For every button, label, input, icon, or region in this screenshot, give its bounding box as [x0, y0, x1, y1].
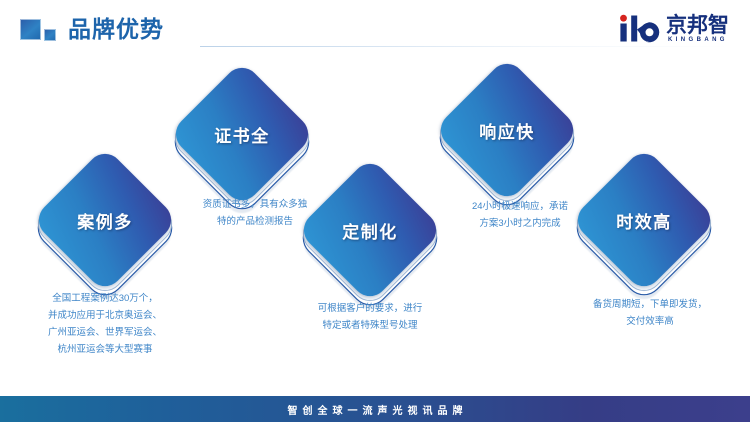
- brand-logo: 京邦智 KINGBANG: [616, 14, 740, 46]
- slide-canvas: 品牌优势 京邦智 KINGBANG 案例多 全国工程案例达30万个， 并成功应用…: [0, 0, 750, 422]
- diamond-badge[interactable]: 响应快: [455, 78, 559, 182]
- diamond-face: [296, 156, 443, 303]
- slide-footer: 智创全球一流声光视讯品牌: [0, 396, 750, 422]
- feature-description: 备货周期短，下单即发货， 交付效率高: [560, 296, 740, 330]
- diamond-badge[interactable]: 定制化: [318, 178, 422, 282]
- footer-slogan: 智创全球一流声光视讯品牌: [283, 402, 468, 417]
- diamond-face: [570, 146, 717, 293]
- logo-chinese-name: 京邦智: [666, 14, 729, 37]
- header-divider: [200, 46, 730, 47]
- feature-description: 可根据客户的要求，进行 特定或者特殊型号处理: [285, 300, 455, 334]
- diamond-face: [433, 56, 580, 203]
- diamond-face: [31, 146, 178, 293]
- feature-description: 全国工程案例达30万个， 并成功应用于北京奥运会、 广州亚运会、世界军运会、 杭…: [0, 290, 210, 358]
- logo-english-name: KINGBANG: [668, 36, 728, 44]
- kb-monogram-icon: [616, 14, 664, 44]
- diamond-badge[interactable]: 时效高: [592, 168, 696, 272]
- square-accent-icon: [20, 19, 41, 40]
- diamond-badge[interactable]: 案例多: [53, 168, 157, 272]
- square-accent-small-icon: [44, 29, 56, 41]
- diamond-face: [168, 60, 315, 207]
- diamond-badge[interactable]: 证书全: [190, 82, 294, 186]
- page-title: 品牌优势: [68, 14, 164, 44]
